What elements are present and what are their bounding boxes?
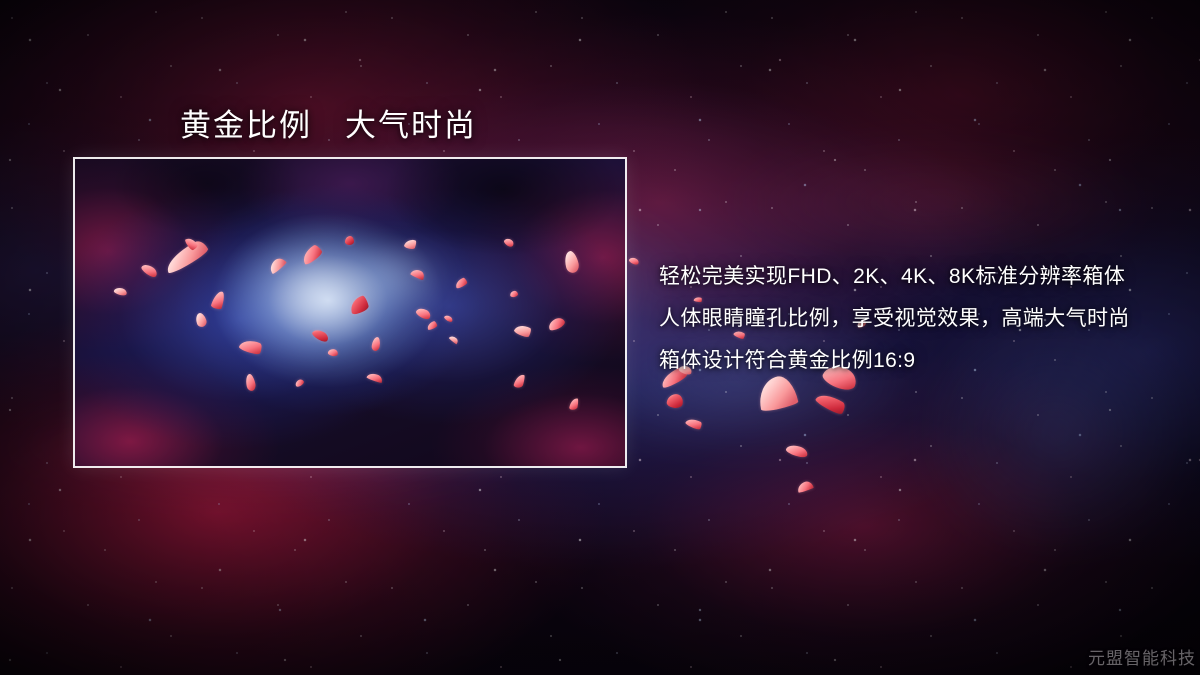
bullet-list: 轻松完美实现FHD、2K、4K、8K标准分辨率箱体 人体眼睛瞳孔比例，享受视觉效… [659, 256, 1159, 382]
display-content [75, 159, 625, 466]
petal [345, 236, 354, 245]
watermark: 元盟智能科技 [1088, 644, 1196, 669]
bullet-line: 箱体设计符合黄金比例16:9 [659, 340, 1159, 382]
slide-canvas: 黄金比例 大气时尚 轻松完美实现FHD、2K、4K、8K标准分辨率箱体 人体眼睛… [0, 0, 1200, 675]
bullet-line: 轻松完美实现FHD、2K、4K、8K标准分辨率箱体 [659, 256, 1159, 298]
display-frame-16-9 [73, 157, 627, 468]
inner-dark-corners [75, 159, 625, 466]
bullet-line: 人体眼睛瞳孔比例，享受视觉效果，高端大气时尚 [659, 298, 1159, 340]
page-title: 黄金比例 大气时尚 [180, 100, 477, 145]
